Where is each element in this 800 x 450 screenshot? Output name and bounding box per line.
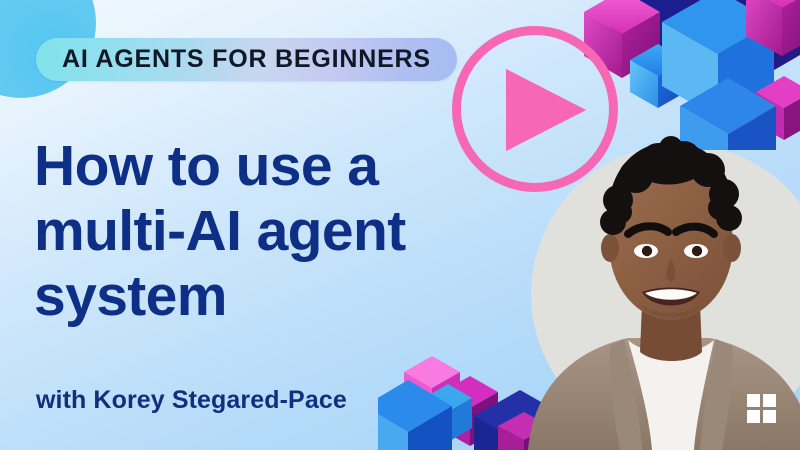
logo-square-2 <box>763 394 776 407</box>
logo-square-3 <box>747 410 760 423</box>
logo-square-4 <box>763 410 776 423</box>
cube-pink <box>404 356 460 420</box>
play-icon[interactable] <box>506 69 586 151</box>
cube-magenta-bc <box>442 376 498 446</box>
series-badge: AI AGENTS FOR BEGINNERS <box>36 38 457 81</box>
title-line-1: How to use a <box>34 134 464 199</box>
cube-blue-bc <box>378 380 452 450</box>
title-line-3: system <box>34 264 464 329</box>
title-line-2: multi-AI agent <box>34 199 464 264</box>
page-title: How to use a multi-AI agent system <box>34 134 464 329</box>
cube-blue-small <box>630 44 686 108</box>
series-badge-label: AI AGENTS FOR BEGINNERS <box>62 47 431 72</box>
cube-lightblue <box>424 384 472 442</box>
cube-magenta-3 <box>756 76 800 140</box>
logo-square-1 <box>747 394 760 407</box>
cube-blue-large <box>662 0 774 118</box>
presenter-byline: with Korey Stegared-Pace <box>36 386 347 415</box>
microsoft-logo <box>747 394 776 423</box>
cube-magenta-2 <box>746 0 800 56</box>
video-thumbnail: AI AGENTS FOR BEGINNERS How to use a mul… <box>0 0 800 450</box>
